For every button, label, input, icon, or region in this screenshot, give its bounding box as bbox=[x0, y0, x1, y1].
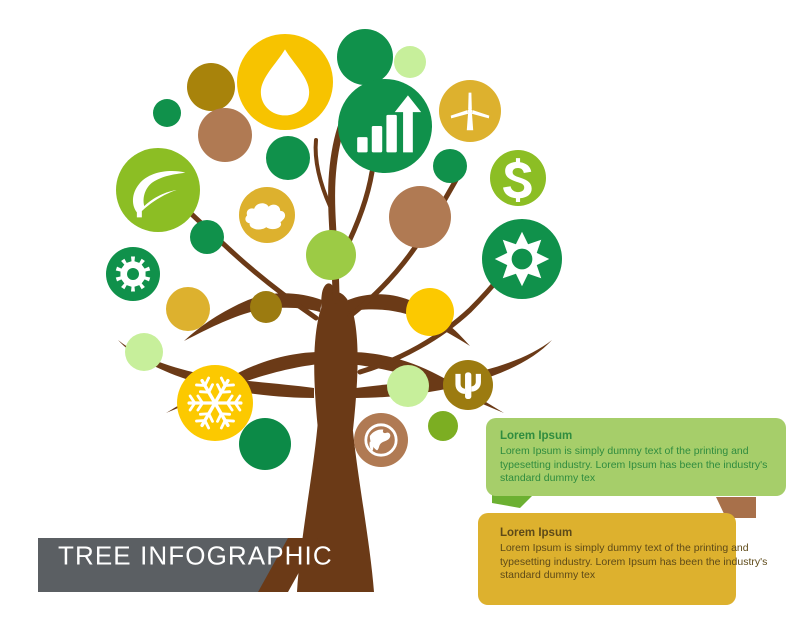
bar-chart-icon[interactable] bbox=[338, 79, 432, 173]
leaf-circle bbox=[387, 365, 429, 407]
leaf-circle bbox=[394, 46, 426, 78]
leaf-circle bbox=[166, 287, 210, 331]
leaf-circle bbox=[198, 108, 252, 162]
title-banner bbox=[38, 538, 318, 592]
leaf-circle bbox=[266, 136, 310, 180]
callout-gold[interactable]: Lorem Ipsum Lorem Ipsum is simply dummy … bbox=[500, 526, 772, 583]
leaf-circle bbox=[433, 149, 467, 183]
cactus-icon[interactable] bbox=[443, 360, 493, 410]
branch-twig-left bbox=[316, 140, 330, 206]
leaf-circle bbox=[187, 63, 235, 111]
water-drop-icon[interactable] bbox=[237, 34, 333, 130]
callout-green[interactable]: Lorem Ipsum Lorem Ipsum is simply dummy … bbox=[500, 429, 772, 486]
leaf-circle bbox=[250, 291, 282, 323]
leaf-icon[interactable] bbox=[116, 148, 200, 232]
infographic-canvas: TREE INFOGRAPHIC Lorem Ipsum Lorem Ipsum… bbox=[0, 0, 800, 623]
leaf-circle bbox=[406, 288, 454, 336]
leaf-circle bbox=[389, 186, 451, 248]
bar-chart-icon-bg bbox=[338, 79, 432, 173]
dollar-icon[interactable] bbox=[490, 150, 546, 206]
leaf-circle bbox=[337, 29, 393, 85]
callout-gold-title: Lorem Ipsum bbox=[500, 526, 772, 541]
banner-bar bbox=[38, 538, 288, 592]
sun-icon[interactable] bbox=[482, 219, 562, 299]
leaf-circle bbox=[306, 230, 356, 280]
callout-green-title: Lorem Ipsum bbox=[500, 429, 772, 444]
leaf-circle bbox=[125, 333, 163, 371]
leaf-circle bbox=[153, 99, 181, 127]
globe-icon[interactable] bbox=[354, 413, 408, 467]
callout-gold-body: Lorem Ipsum is simply dummy text of the … bbox=[500, 542, 772, 583]
leaf-circle bbox=[190, 220, 224, 254]
sun-icon-glyph bbox=[495, 232, 549, 286]
cloud-icon[interactable] bbox=[239, 187, 295, 243]
leaf-icon-bg bbox=[116, 148, 200, 232]
leaf-circle bbox=[239, 418, 291, 470]
snowflake-icon[interactable] bbox=[177, 365, 253, 441]
wind-turbine-icon[interactable] bbox=[439, 80, 501, 142]
leaf-circle bbox=[428, 411, 458, 441]
gear-icon[interactable] bbox=[106, 247, 160, 301]
callout-green-body: Lorem Ipsum is simply dummy text of the … bbox=[500, 445, 772, 486]
